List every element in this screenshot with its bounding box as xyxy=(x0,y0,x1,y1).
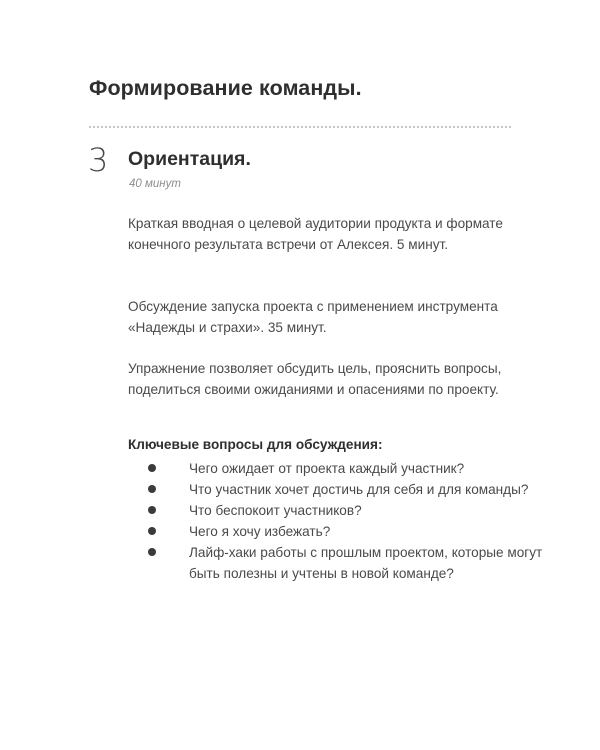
paragraph-1: Краткая вводная о целевой аудитории прод… xyxy=(128,213,528,255)
questions-list: Чего ожидает от проекта каждый участник?… xyxy=(128,458,543,584)
list-item-label: Лайф-хаки работы с прошлым проектом, кот… xyxy=(189,542,543,584)
list-item-label: Что участник хочет достичь для себя и дл… xyxy=(189,479,543,500)
list-item-label: Чего ожидает от проекта каждый участник? xyxy=(189,458,543,479)
bullet-icon xyxy=(148,506,156,514)
list-item: Чего я хочу избежать? xyxy=(128,521,543,542)
list-item: Чего ожидает от проекта каждый участник? xyxy=(128,458,543,479)
title-divider xyxy=(89,126,511,129)
paragraph-2: Обсуждение запуска проекта с применением… xyxy=(128,296,528,338)
list-item-label: Чего я хочу избежать? xyxy=(189,521,543,542)
bullet-icon xyxy=(148,464,156,472)
section-duration: 40 минут xyxy=(129,178,181,190)
list-item: Что участник хочет достичь для себя и дл… xyxy=(128,479,543,500)
questions-title: Ключевые вопросы для обсуждения: xyxy=(128,437,382,452)
list-item: Лайф-хаки работы с прошлым проектом, кот… xyxy=(128,542,543,584)
bullet-icon xyxy=(148,485,156,493)
paragraph-3: Упражнение позволяет обсудить цель, проя… xyxy=(128,358,528,400)
list-item-label: Что беспокоит участников? xyxy=(189,500,543,521)
bullet-icon xyxy=(148,527,156,535)
page-title: Формирование команды. xyxy=(89,76,362,101)
section-heading: Ориентация. xyxy=(128,148,251,171)
section-number: 3 xyxy=(88,144,108,176)
list-item: Что беспокоит участников? xyxy=(128,500,543,521)
bullet-icon xyxy=(148,548,156,556)
document-page: Формирование команды. 3 Ориентация. 40 м… xyxy=(0,0,600,750)
